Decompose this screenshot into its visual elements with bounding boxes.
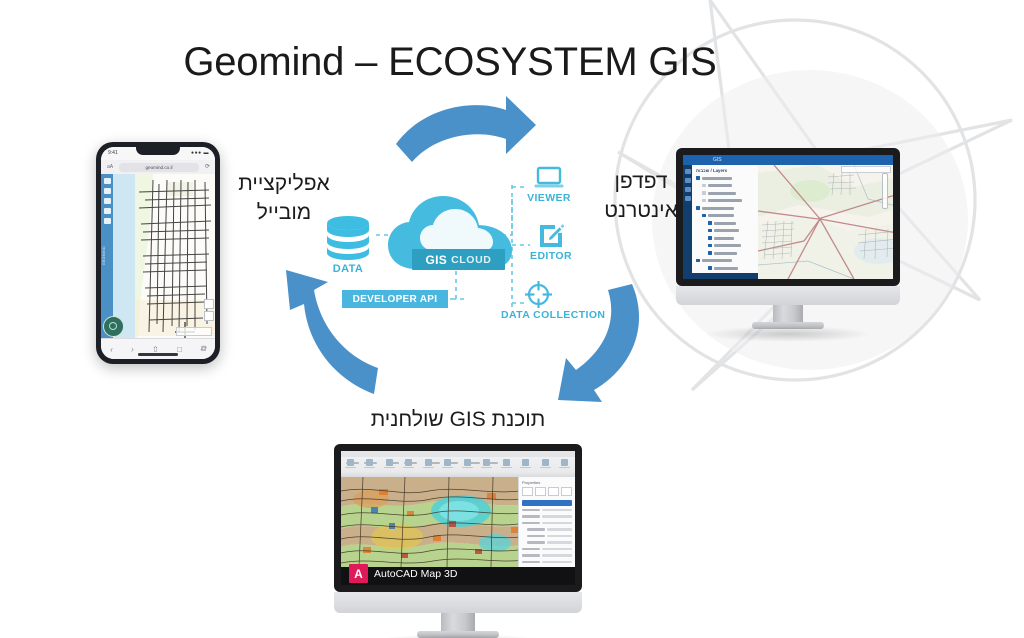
property-key [522, 548, 540, 551]
branch-viewer: VIEWER [512, 166, 586, 204]
ribbon-tool-button[interactable] [462, 459, 473, 470]
property-key [522, 515, 540, 518]
ribbon-tool-button[interactable] [559, 459, 570, 470]
bookmarks-icon[interactable]: □ [177, 345, 182, 354]
phone-map-graphic [101, 174, 215, 339]
layer-checkbox[interactable] [702, 199, 706, 203]
property-row[interactable] [522, 521, 572, 526]
layer-checkbox[interactable] [702, 184, 706, 188]
layer-row[interactable] [696, 190, 758, 196]
layer-name [714, 237, 734, 240]
property-key [527, 541, 545, 544]
autocad-ribbon[interactable] [341, 451, 575, 478]
gis-cloud-badge: GIS CLOUD [412, 249, 505, 270]
property-row[interactable] [522, 553, 572, 558]
phone-map-view[interactable]: GEOMIND 100 m [101, 174, 215, 339]
toolbar-icon-measure[interactable] [104, 198, 111, 204]
layer-row[interactable] [696, 235, 758, 241]
web-gis-map-toolbar[interactable] [841, 166, 891, 173]
mobile-phone-mockup: 9:41 ●●● ▬ aA geomind.co.il ⟳ [96, 142, 220, 364]
gis-cloud-diagram: DATA GIS CLOUD DEVELOPER API VIEWER [316, 185, 616, 330]
back-icon[interactable]: ‹ [110, 345, 113, 354]
developer-api-label: DEVELOPER API [353, 294, 438, 305]
layer-row[interactable] [696, 250, 758, 256]
reload-icon[interactable]: ⟳ [205, 163, 210, 170]
autocad-product-name: AutoCAD Map 3D [374, 568, 457, 580]
ribbon-tool-button[interactable] [520, 459, 531, 470]
property-value[interactable] [542, 554, 572, 557]
autodesk-logo-icon: A [349, 564, 368, 583]
layer-checkbox[interactable] [708, 236, 712, 240]
property-row[interactable] [522, 514, 572, 519]
layer-name [714, 244, 741, 247]
layer-name [708, 214, 734, 217]
property-key [522, 522, 540, 525]
phone-body: 9:41 ●●● ▬ aA geomind.co.il ⟳ [96, 142, 220, 364]
phone-status-time: 9:41 [108, 150, 118, 156]
property-key [522, 509, 540, 512]
property-row[interactable] [522, 508, 572, 513]
phone-url-text: geomind.co.il [119, 163, 199, 172]
web-gis-screen[interactable]: GIS שכבות / Layers [683, 155, 893, 279]
properties-swatch-grid[interactable] [519, 487, 575, 498]
layer-name [714, 222, 736, 225]
properties-selected-row[interactable] [522, 500, 572, 506]
locate-me-button[interactable] [103, 316, 124, 337]
web-gis-panel-title: שכבות / Layers [692, 165, 758, 175]
layer-checkbox[interactable] [702, 214, 706, 218]
developer-api-badge: DEVELOPER API [342, 290, 448, 308]
ribbon-tool-button[interactable] [384, 459, 395, 470]
rail-icon-layers[interactable] [685, 169, 691, 174]
property-value[interactable] [542, 548, 572, 551]
gis-cloud-badge-primary: GIS [426, 253, 448, 267]
phone-map-scale-bar: 100 m [176, 327, 212, 336]
ribbon-tool-button[interactable] [423, 459, 434, 470]
page-title: Geomind – ECOSYSTEM GIS [140, 40, 760, 85]
rail-icon-tools[interactable] [685, 187, 691, 192]
autocad-ribbon-tools[interactable] [341, 457, 575, 471]
ribbon-tool-button[interactable] [364, 459, 375, 470]
gis-cloud-badge-secondary: CLOUD [451, 254, 491, 266]
toolbar-icon-layers[interactable] [104, 178, 111, 184]
branch-editor: EDITOR [514, 223, 588, 262]
ribbon-tool-button[interactable] [481, 459, 492, 470]
property-value[interactable] [542, 515, 572, 518]
layer-row[interactable] [696, 213, 758, 219]
autocad-map-graphic [341, 477, 519, 567]
autodesk-logo-letter: A [354, 568, 363, 580]
property-value[interactable] [542, 522, 572, 525]
forward-icon[interactable]: › [131, 345, 134, 354]
layer-name [714, 252, 737, 255]
property-key [522, 561, 540, 564]
web-gis-status-bar [692, 273, 758, 279]
property-key [527, 528, 545, 531]
property-value[interactable] [542, 509, 572, 512]
layer-checkbox[interactable] [708, 251, 712, 255]
autocad-command-bar: A AutoCAD Map 3D [341, 567, 575, 585]
layer-row[interactable] [696, 243, 758, 249]
phone-url-field[interactable]: geomind.co.il [119, 163, 199, 172]
phone-toolbar-vertical-label: GEOMIND [102, 246, 112, 265]
property-row[interactable] [522, 527, 572, 532]
web-gis-app-title: GIS [713, 157, 722, 163]
slide-canvas: Geomind – ECOSYSTEM GIS אפליקציית מובייל… [0, 0, 1024, 638]
properties-panel-title: Properties [519, 477, 575, 487]
layer-checkbox[interactable] [702, 191, 706, 195]
property-row[interactable] [522, 534, 572, 539]
layer-checkbox[interactable] [708, 221, 712, 225]
layer-checkbox[interactable] [696, 176, 700, 180]
zoom-out-button[interactable] [204, 311, 214, 321]
rail-icon-print[interactable] [685, 196, 691, 201]
laptop-icon [534, 166, 564, 191]
web-gis-layer-panel[interactable]: שכבות / Layers [692, 165, 759, 279]
property-row[interactable] [522, 560, 572, 565]
crosshair-target-icon [525, 281, 552, 308]
ribbon-tool-button[interactable] [540, 459, 551, 470]
layer-checkbox[interactable] [696, 259, 700, 263]
autocad-brand: A AutoCAD Map 3D [349, 564, 457, 583]
phone-map-toolbar[interactable]: GEOMIND [101, 174, 113, 339]
layer-row[interactable] [696, 258, 758, 264]
layer-name [702, 207, 734, 210]
property-row[interactable] [522, 540, 572, 545]
arrow-mobile-to-cloud [388, 92, 540, 164]
autocad-screen[interactable]: Properties [341, 451, 575, 585]
layer-name [708, 199, 742, 202]
phone-map-zoom-controls[interactable] [204, 299, 212, 323]
rail-icon-search[interactable] [685, 178, 691, 183]
monitor-bezel: GIS שכבות / Layers [676, 148, 900, 286]
database-icon [324, 215, 372, 261]
aa-icon[interactable]: aA [107, 164, 113, 170]
monitor-shadow [704, 326, 872, 342]
layer-checkbox[interactable] [708, 244, 712, 248]
layer-checkbox[interactable] [708, 266, 712, 270]
ribbon-tool-button[interactable] [501, 459, 512, 470]
web-gis-map-view[interactable] [758, 165, 893, 279]
phone-browser-url-bar[interactable]: aA geomind.co.il ⟳ [101, 160, 215, 175]
property-value[interactable] [547, 541, 572, 544]
swatch[interactable] [535, 487, 546, 496]
web-gis-topbar: GIS [683, 155, 893, 165]
property-value[interactable] [542, 561, 572, 564]
layer-tree[interactable] [692, 175, 758, 279]
ribbon-tool-button[interactable] [403, 459, 414, 470]
swatch[interactable] [561, 487, 572, 496]
toolbar-icon-locate[interactable] [104, 208, 111, 214]
monitor-shadow [365, 634, 551, 638]
layer-name [708, 192, 736, 195]
swatch[interactable] [522, 487, 533, 496]
branch-viewer-label: VIEWER [512, 192, 586, 204]
phone-status-indicators: ●●● ▬ [191, 150, 209, 156]
layer-name [702, 177, 732, 180]
layer-checkbox[interactable] [708, 229, 712, 233]
ribbon-tool-button[interactable] [345, 459, 356, 470]
branch-data-collection-label: DATA COLLECTION [501, 309, 575, 321]
monitor-stand-neck [441, 613, 475, 632]
layer-row[interactable] [696, 175, 758, 181]
layer-name [708, 184, 732, 187]
desktop-monitor-web-gis: GIS שכבות / Layers [676, 148, 900, 333]
layer-name [714, 267, 738, 270]
zoom-in-button[interactable] [204, 299, 214, 309]
web-gis-zoom-slider[interactable] [882, 173, 888, 209]
property-value[interactable] [547, 528, 572, 531]
branch-data-collection: DATA COLLECTION [501, 281, 575, 321]
layer-row[interactable] [696, 265, 758, 271]
phone-notch [136, 146, 180, 155]
phone-home-indicator [138, 353, 178, 356]
property-row[interactable] [522, 547, 572, 552]
monitor-stand-neck [773, 305, 803, 323]
monitor-chin [334, 592, 582, 613]
web-gis-icon-rail[interactable] [683, 165, 692, 279]
pencil-square-icon [538, 223, 564, 249]
ribbon-tool-button[interactable] [442, 459, 453, 470]
autocad-properties-panel[interactable]: Properties [518, 477, 575, 567]
label-desktop-gis: תוכנת GIS שולחנית [338, 406, 578, 435]
property-key [527, 535, 545, 538]
monitor-bezel: Properties [334, 444, 582, 592]
layer-name [702, 259, 732, 262]
phone-screen: 9:41 ●●● ▬ aA geomind.co.il ⟳ [101, 147, 215, 359]
layer-row[interactable] [696, 205, 758, 211]
web-gis-map-graphic [758, 165, 893, 279]
data-label: DATA [314, 263, 382, 275]
desktop-monitor-autocad: Properties [334, 444, 582, 638]
branch-editor-label: EDITOR [514, 250, 588, 262]
swatch[interactable] [548, 487, 559, 496]
monitor-chin [676, 286, 900, 305]
toolbar-icon-settings[interactable] [104, 218, 111, 224]
layer-checkbox[interactable] [696, 206, 700, 210]
layer-row[interactable] [696, 183, 758, 189]
autocad-drawing-canvas[interactable] [341, 477, 519, 567]
tabs-icon[interactable]: ⧉ [200, 344, 206, 354]
layer-name [714, 229, 739, 232]
property-value[interactable] [547, 535, 572, 538]
layer-row[interactable] [696, 228, 758, 234]
toolbar-icon-search[interactable] [104, 188, 111, 194]
layer-row[interactable] [696, 198, 758, 204]
layer-row[interactable] [696, 220, 758, 226]
property-key [522, 554, 540, 557]
